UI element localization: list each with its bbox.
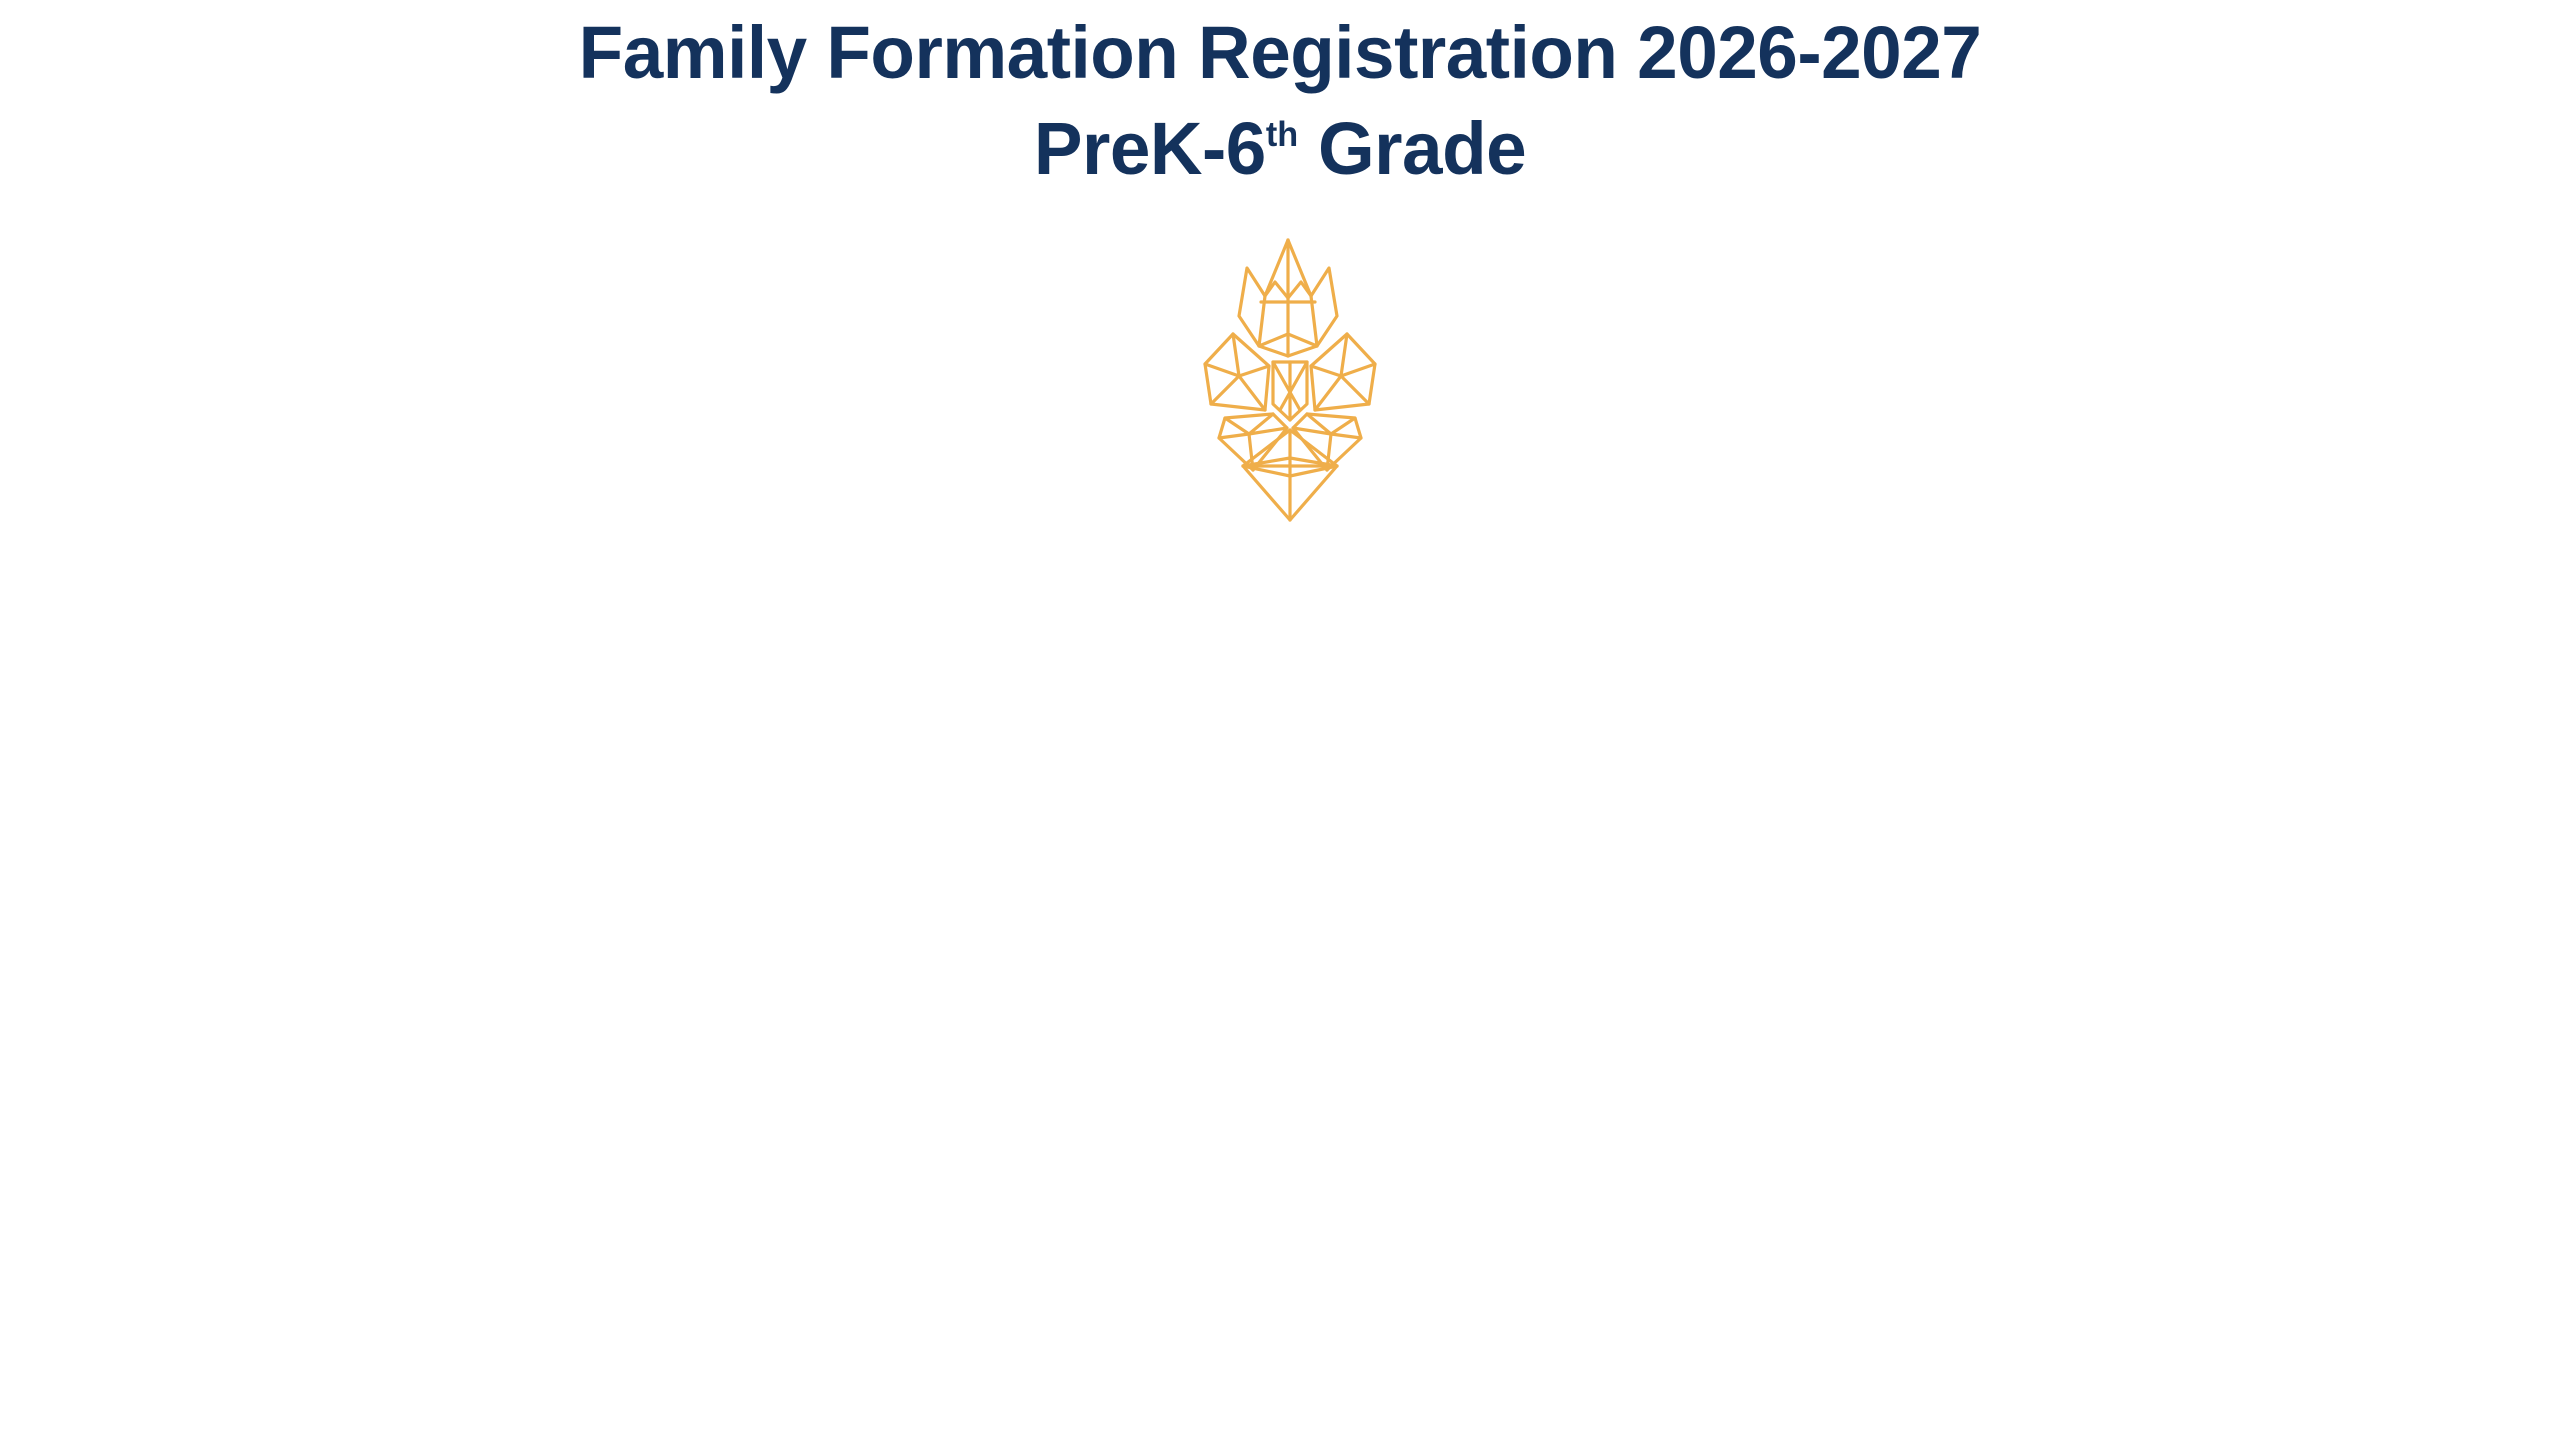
lower-right-petal-facet-c: [1331, 434, 1361, 438]
grade-ordinal-superscript: th: [1266, 116, 1298, 154]
title-line-grade-range: PreK-6th Grade: [19, 90, 2541, 186]
upper-left-petal-facet-c: [1205, 364, 1239, 376]
upper-right-petal-facet-b: [1311, 366, 1341, 376]
lower-left-petal-facet-b: [1225, 418, 1249, 434]
upper-left-petal-facet-d: [1211, 376, 1239, 404]
lower-left-petal-facet-c: [1219, 434, 1249, 438]
faceted-heart-flame-icon: [1203, 238, 1377, 522]
logo-center-shield: [1273, 362, 1307, 420]
logo-upper-right-petal: [1311, 334, 1375, 410]
title-line-registration-year: Family Formation Registration 2026-2027: [19, 0, 2541, 90]
upper-right-petal-facet-e: [1315, 376, 1341, 410]
faceted-heart-flame-svg: [1203, 238, 1377, 522]
logo-crown-group: [1239, 240, 1337, 356]
upper-left-petal-facet-b: [1239, 366, 1269, 376]
upper-right-petal-facet-d: [1341, 376, 1369, 404]
grade-label: Grade: [1298, 107, 1526, 190]
logo-bottom-diamond: [1243, 430, 1337, 520]
page-title: Family Formation Registration 2026-2027 …: [0, 0, 2560, 186]
center-shield-x-b: [1280, 362, 1307, 410]
page-root: Family Formation Registration 2026-2027 …: [0, 0, 2560, 1440]
lower-right-petal-facet-b: [1331, 418, 1355, 434]
grade-range-prefix: PreK-6: [1034, 107, 1266, 190]
upper-left-petal-facet-e: [1239, 376, 1265, 410]
center-shield-x-a: [1273, 362, 1300, 410]
upper-right-petal-facet-c: [1341, 364, 1375, 376]
